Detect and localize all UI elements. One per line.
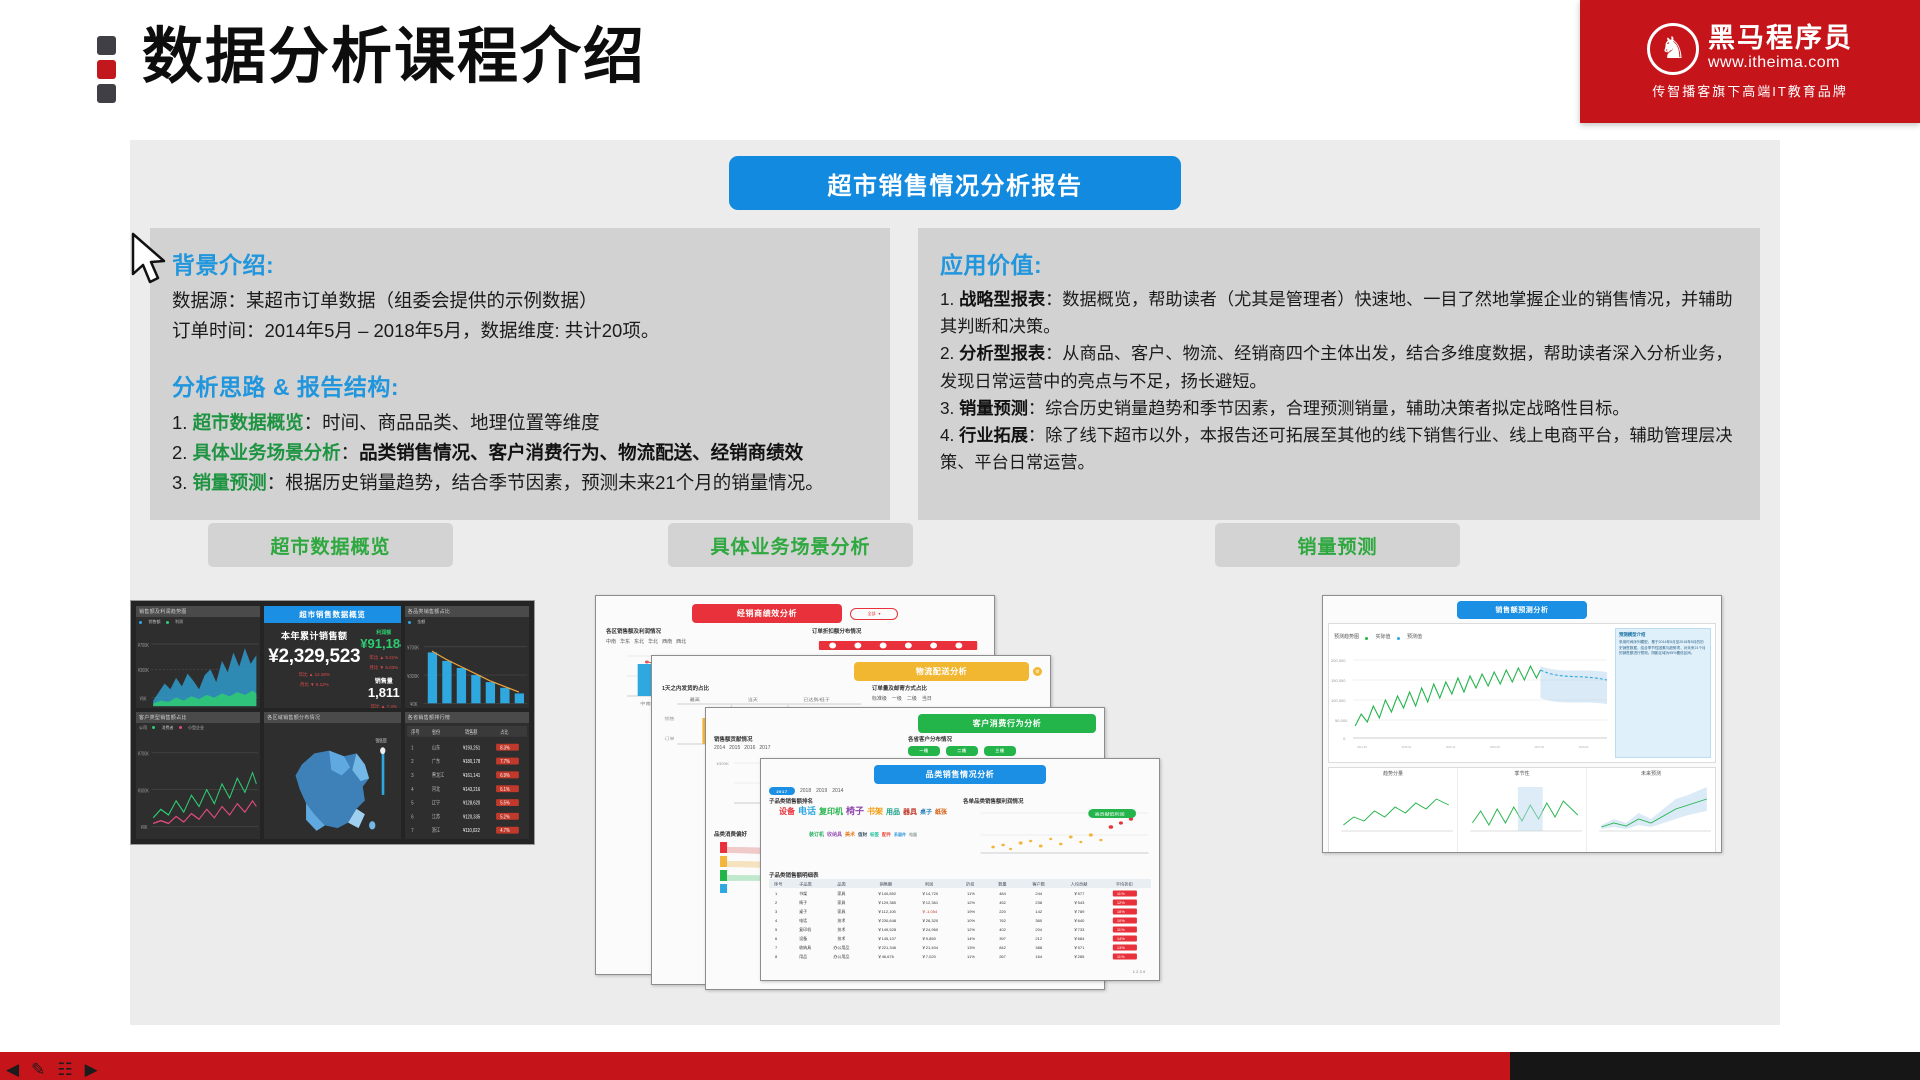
svg-text:江苏: 江苏 [432, 813, 440, 821]
structure-item-3: 3. 销量预测：根据历史销量趋势，结合季节因素，预测未来21个月的销量情况。 [172, 468, 868, 498]
section-label-row: 超市数据概览 具体业务场景分析 销量预测 [130, 523, 1780, 567]
value-heading: 应用价值: [940, 246, 1738, 280]
structure-item-2: 2. 具体业务场景分析：品类销售情况、客户消费行为、物流配送、经销商绩效 [172, 438, 868, 468]
legend-label-furn: 小型企业 [188, 725, 204, 731]
svg-text:￥149,528: ￥149,528 [878, 927, 897, 932]
dk-tile-province-table: 各省销售额排行榜 序号 省份 销售额 占比 1山东¥193,2518.3% 2广… [405, 712, 529, 839]
legend-swatch-profit [166, 620, 171, 625]
dk-tile-map-title: 各区域销售额分布情况 [264, 712, 401, 723]
value-item-4-num: 4. [940, 425, 954, 445]
svg-text:402: 402 [999, 927, 1006, 932]
category-detail-table: 序号子品类品类 销售额利润折扣 数量客户数人均贡献 平均折扣 1书架家具￥140… [769, 879, 1151, 964]
svg-text:平均折扣: 平均折扣 [1116, 881, 1133, 888]
svg-text:18%: 18% [1117, 909, 1125, 914]
svg-text:¥110,022: ¥110,022 [463, 827, 480, 834]
category-year-3[interactable]: 2014 [832, 788, 843, 794]
value-item-3-sep: ： [1028, 398, 1045, 418]
value-item-1-sep: ： [1045, 289, 1062, 309]
dealer-title-pill: 经销商绩效分析 [692, 604, 842, 623]
svg-text:¥143,216: ¥143,216 [463, 786, 480, 793]
forecast-season-subchart [1460, 777, 1584, 841]
logistics-legend-2: 二级 [907, 695, 917, 702]
svg-text:2015-11: 2015-11 [1446, 745, 1456, 749]
brand-logo: ♞ 黑马程序员 www.itheima.com 传智播客旗下高端IT教育品牌 [1580, 0, 1920, 123]
category-sub-left: 子品类销售额排名 [769, 797, 957, 805]
svg-text:14%: 14% [1117, 936, 1125, 941]
svg-text:高贡献低利润: 高贡献低利润 [1095, 811, 1125, 817]
svg-text:￥112,105: ￥112,105 [878, 909, 897, 914]
svg-text:办公用品: 办公用品 [833, 944, 849, 950]
pen-icon[interactable]: ✎ [31, 1061, 45, 1078]
dealer-legend-5: 西北 [676, 638, 686, 645]
svg-text:￥9,850: ￥9,850 [922, 936, 937, 941]
customer-tab-1[interactable]: 二线 [946, 746, 978, 756]
brand-name-cn: 黑马程序员 [1708, 24, 1853, 54]
customer-sub-right: 各省客户分布情况 [908, 735, 1096, 743]
svg-text:￥12,361: ￥12,361 [922, 900, 939, 905]
category-wordcloud: 设备 电话 复印机 椅子 书架 用品 器具 桌子 纸张 装订机 收纳具 美术 [769, 805, 957, 855]
forecast-sub-1: 季节性 [1460, 770, 1584, 777]
dk-tile-category-legend: 金额 [405, 617, 529, 627]
forecast-line-chart: 200,000150,000 100,00050,0000 2014-05201… [1329, 648, 1611, 766]
prev-arrow-icon[interactable]: ◀ [6, 1061, 19, 1078]
value-item-4-sep: ： [1028, 425, 1045, 445]
svg-text:￥145,107: ￥145,107 [878, 936, 897, 941]
forecast-title-pill: 销售额预测分析 [1457, 601, 1587, 619]
svg-text:220: 220 [999, 909, 1006, 914]
svg-text:6.9%: 6.9% [500, 772, 510, 779]
value-item-3-key: 销量预测 [959, 398, 1028, 418]
svg-text:¥300K: ¥300K [717, 762, 730, 766]
dk-kpi-side: 利润额 ¥91,184 年比 ▲ 9.21% 月比 ▼ 5.03% 销售量 1,… [360, 629, 401, 708]
thumbnail-category-sales[interactable]: 品类销售情况分析 2017 2018 2019 2014 子品类销售额排名 设备… [760, 758, 1160, 981]
page-icon[interactable]: ☷ [57, 1061, 72, 1078]
svg-text:10%: 10% [1117, 918, 1125, 923]
svg-text:6: 6 [775, 936, 778, 941]
bottom-bar [0, 1052, 1920, 1080]
svg-text:1: 1 [775, 891, 778, 896]
dealer-legend-3: 华北 [648, 638, 658, 645]
svg-text:设备: 设备 [799, 935, 807, 941]
dk-region-chart: ¥700K ¥300K ¥0K [136, 733, 260, 839]
svg-text:¥180,178: ¥180,178 [463, 758, 480, 765]
svg-text:762: 762 [999, 918, 1006, 923]
section-label-business[interactable]: 具体业务场景分析 [668, 523, 913, 567]
svg-text:212: 212 [1035, 936, 1042, 941]
structure-item-3-text: 根据历史销量趋势，结合季节因素，预测未来21个月的销量情况。 [285, 472, 824, 493]
svg-text:序号: 序号 [774, 881, 782, 888]
svg-text:7: 7 [775, 945, 778, 950]
svg-text:￥789: ￥789 [1074, 909, 1085, 914]
wordcloud-word-13: 标签 [870, 833, 879, 838]
background-line-2: 订单时间：2014年5月 – 2018年5月，数据维度: 共计20项。 [172, 316, 868, 346]
report-title-banner: 超市销售情况分析报告 [729, 156, 1181, 210]
content-card: 超市销售情况分析报告 背景介绍: 数据源：某超市订单数据（组委会提供的示例数据）… [130, 140, 1780, 1025]
value-item-1: 1. 战略型报表：数据概览，帮助读者（尤其是管理者）快速地、一目了然地掌握企业的… [940, 286, 1738, 340]
wordcloud-word-7: 桌子 [920, 810, 932, 816]
svg-text:¥300K: ¥300K [138, 668, 150, 675]
svg-text:484: 484 [999, 891, 1006, 896]
svg-text:13%: 13% [1117, 945, 1125, 950]
svg-text:订单: 订单 [665, 736, 676, 742]
section-label-forecast[interactable]: 销量预测 [1215, 523, 1460, 567]
dk-category-chart: ¥700K ¥300K ¥0K 电话椅子书架 设备桌子用品 收纳 [405, 627, 529, 708]
svg-text:238: 238 [1035, 900, 1042, 905]
svg-text:200,000: 200,000 [1331, 658, 1346, 663]
dk-kpi-value: ¥2,329,523 [268, 646, 360, 668]
svg-text:5: 5 [775, 927, 778, 932]
svg-text:12%: 12% [967, 900, 975, 905]
svg-text:11%: 11% [1117, 927, 1125, 932]
svg-text:150,000: 150,000 [1331, 678, 1346, 683]
svg-text:￥140,892: ￥140,892 [878, 891, 897, 896]
svg-text:11%: 11% [1117, 891, 1125, 896]
wordcloud-word-3: 椅子 [846, 807, 864, 816]
thumbnail-business-dashboards[interactable]: 经销商绩效分析 全部 ▾ 各区销售额及利润情况 中南 华东 东北 华北 [595, 595, 1295, 1010]
svg-text:7: 7 [411, 827, 414, 834]
section-label-overview[interactable]: 超市数据概览 [208, 523, 453, 567]
svg-text:￥571: ￥571 [1074, 945, 1085, 950]
structure-item-2-key: 具体业务场景分析 [193, 442, 341, 463]
forecast-sub-2: 未来预测 [1589, 770, 1713, 777]
svg-text:14%: 14% [967, 936, 975, 941]
svg-text:¥161,141: ¥161,141 [463, 772, 480, 779]
info-panels: 背景介绍: 数据源：某超市订单数据（组委会提供的示例数据） 订单时间：2014年… [150, 228, 1760, 520]
svg-text:1: 1 [411, 745, 414, 752]
bullet-square-red [97, 60, 116, 79]
thumbnail-overview-dashboard[interactable]: 销售额及利润趋势图 销售额 利润 ¥700K ¥300K ¥0K 201 [130, 600, 535, 845]
dk-kpi-label: 本年累计销售额 [268, 629, 360, 642]
svg-text:244: 244 [1035, 891, 1042, 896]
wordcloud-word-1: 电话 [798, 807, 816, 816]
svg-text:12%: 12% [967, 927, 975, 932]
dk-overview-header: 超市销售数据概览 [264, 606, 401, 623]
horse-head-icon: ♞ [1647, 23, 1699, 75]
svg-text:收纳具: 收纳具 [799, 944, 811, 950]
svg-text:家具: 家具 [837, 899, 845, 905]
wordcloud-word-9: 装订机 [809, 833, 824, 838]
svg-text:2015-02: 2015-02 [1402, 745, 1412, 749]
background-heading: 背景介绍: [172, 246, 868, 280]
logistics-legend: 标准级 一级 二级 当日 [872, 695, 1040, 702]
title-bullet-marks [97, 36, 116, 103]
svg-text:中南: 中南 [640, 701, 651, 707]
svg-text:￥-1,054: ￥-1,054 [922, 909, 938, 914]
structure-item-1-sep: ： [304, 412, 323, 433]
structure-item-2-num: 2. [172, 442, 187, 463]
wordcloud-word-14: 配件 [882, 833, 891, 838]
dk-side-sub-1b: 月比 ▼ 5.03% [360, 665, 401, 671]
svg-text:椅子: 椅子 [799, 899, 807, 905]
category-table-pagination[interactable]: 1 2 3 4 [769, 969, 1151, 974]
svg-text:￥7,020: ￥7,020 [922, 954, 937, 959]
dealer-legend-4: 西南 [662, 638, 672, 645]
brand-row: ♞ 黑马程序员 www.itheima.com [1647, 23, 1853, 75]
structure-item-1-key: 超市数据概览 [193, 412, 304, 433]
dk-tile-category-title: 各品类销售额占比 [405, 606, 529, 617]
svg-text:10%: 10% [967, 918, 975, 923]
value-item-1-num: 1. [940, 289, 954, 309]
dk-kpi-main: 本年累计销售额 ¥2,329,523 年比 ▲ 12.38% 月比 ▼ 8.12… [268, 629, 360, 708]
svg-text:267: 267 [999, 954, 1006, 959]
svg-text:￥577: ￥577 [1074, 891, 1085, 896]
wordcloud-word-16: 电器 [909, 833, 917, 837]
svg-text:¥300K: ¥300K [407, 673, 420, 680]
dk-tile-kpi: 超市销售数据概览 本年累计销售额 ¥2,329,523 年比 ▲ 12.38% … [264, 606, 401, 708]
svg-text:家具: 家具 [837, 890, 845, 896]
dk-china-map: 销售额 [264, 723, 401, 839]
svg-text:204: 204 [1035, 927, 1042, 932]
dk-tile-trend: 销售额及利润趋势图 销售额 利润 ¥700K ¥300K ¥0K 201 [136, 606, 260, 708]
value-item-2-sep: ： [1045, 343, 1062, 363]
svg-text:¥128,620: ¥128,620 [463, 800, 480, 807]
dealer-filter-label: 全部 [867, 611, 875, 617]
svg-text:河北: 河北 [432, 785, 440, 793]
svg-text:4: 4 [775, 918, 778, 923]
dk-tile-category: 各品类销售额占比 金额 ¥700K ¥300K ¥0K [405, 606, 529, 708]
svg-text:2018-02: 2018-02 [1579, 745, 1589, 749]
svg-text:2: 2 [775, 900, 778, 905]
wordcloud-word-11: 美术 [845, 833, 855, 838]
svg-text:￥684: ￥684 [1074, 936, 1085, 941]
svg-text:50,000: 50,000 [1335, 718, 1348, 723]
svg-text:6.1%: 6.1% [500, 786, 510, 793]
wordcloud-word-5: 用品 [886, 809, 900, 816]
wordcloud-word-8: 纸张 [935, 810, 947, 816]
structure-item-2-sep: ： [341, 442, 360, 463]
customer-tabs[interactable]: 一线 二线 三线 [908, 746, 1096, 756]
dk-side-value-2: 1,811 [360, 685, 401, 700]
dk-side-label-1: 利润额 [360, 629, 401, 636]
category-year-1[interactable]: 2018 [800, 788, 811, 794]
svg-text:3: 3 [411, 772, 414, 779]
next-arrow-icon[interactable]: ▶ [85, 1061, 98, 1078]
svg-text:8: 8 [775, 954, 778, 959]
value-item-2-num: 2. [940, 343, 954, 363]
legend-swatch-predicted [1397, 627, 1402, 645]
legend-label-sales: 销售额 [149, 619, 161, 625]
svg-text:办公用品: 办公用品 [833, 953, 849, 959]
customer-title-pill: 客户消费行为分析 [918, 714, 1096, 733]
svg-text:¥300K: ¥300K [138, 787, 150, 794]
svg-text:11%: 11% [967, 891, 975, 896]
bullet-square-dark-top [97, 36, 116, 55]
bottom-toolbar[interactable]: ◀ ✎ ☷ ▶ [6, 1061, 98, 1078]
legend-label-amount: 金额 [417, 619, 425, 625]
svg-text:142: 142 [1035, 909, 1042, 914]
category-scatter-chart: 高贡献低利润 [963, 805, 1151, 865]
wordcloud-word-0: 设备 [779, 808, 795, 816]
svg-text:家具: 家具 [837, 908, 845, 914]
svg-text:388: 388 [1035, 945, 1042, 950]
svg-text:5.5%: 5.5% [500, 800, 510, 807]
gear-icon[interactable]: ⚙ [1033, 667, 1042, 676]
legend-swatch-actual [1365, 627, 1370, 645]
forecast-main-chart-box: 预测趋势图 实际值 预测值 200,000150,000 100,00050,0… [1328, 623, 1716, 763]
category-table-title: 子品类销售额明细表 [769, 871, 1151, 879]
svg-text:￥221,346: ￥221,346 [878, 945, 897, 950]
customer-sub-left: 销售额贡献情况 [714, 735, 902, 743]
svg-text:¥120,335: ¥120,335 [463, 814, 480, 821]
svg-text:100,000: 100,000 [1331, 698, 1346, 703]
customer-tab-0[interactable]: 一线 [908, 746, 940, 756]
svg-text:数量: 数量 [998, 881, 1006, 888]
dealer-legend-1: 华东 [620, 638, 630, 645]
wordcloud-word-6: 器具 [903, 809, 917, 816]
category-title-pill: 品类销售情况分析 [874, 765, 1046, 784]
svg-text:人均贡献: 人均贡献 [1071, 881, 1089, 888]
svg-text:已达到/低于: 已达到/低于 [803, 697, 830, 703]
svg-text:子品类: 子品类 [799, 881, 812, 888]
svg-text:￥640: ￥640 [1074, 918, 1085, 923]
dk-tile-trend-legend: 销售额 利润 [136, 617, 260, 627]
customer-legend-0: 2014 [714, 745, 725, 751]
structure-item-3-sep: ： [267, 472, 286, 493]
svg-text:¥0K: ¥0K [140, 696, 147, 703]
structure-heading: 分析思路 & 报告结构: [172, 368, 868, 402]
brand-names: 黑马程序员 www.itheima.com [1708, 24, 1853, 74]
svg-text:折扣: 折扣 [966, 881, 974, 888]
bottom-bar-dark-segment [1510, 1052, 1920, 1080]
forecast-future-subchart [1589, 777, 1713, 841]
dk-side-label-2: 销售量 [360, 676, 401, 685]
dk-tile-map: 各区域销售额分布情况 销售额 [264, 712, 401, 839]
svg-text:辽宁: 辽宁 [432, 799, 440, 807]
legend-label-customertype: 公司 [139, 725, 147, 731]
svg-text:¥193,251: ¥193,251 [463, 745, 480, 752]
svg-text:7.7%: 7.7% [500, 758, 510, 765]
svg-text:山东: 山东 [432, 743, 440, 751]
svg-text:最高: 最高 [690, 697, 701, 703]
dk-trend-chart: ¥700K ¥300K ¥0K 2014年5月 2016年5月 2018年5月 [136, 627, 260, 708]
svg-text:利润: 利润 [925, 881, 933, 888]
dk-side-value-1: ¥91,184 [360, 636, 401, 651]
dk-tile-region-legend: 公司 消费者 小型企业 [136, 723, 260, 733]
svg-text:842: 842 [999, 945, 1006, 950]
svg-text:黑龙江: 黑龙江 [432, 771, 444, 779]
value-item-4-text: 除了线下超市以外，本报告还可拓展至其他的线下销售行业、线上电商平台，辅助管理层决… [940, 425, 1733, 472]
background-line-1: 数据源：某超市订单数据（组委会提供的示例数据） [172, 286, 868, 316]
wordcloud-word-15: 系固件 [894, 833, 906, 837]
dealer-filter-dropdown[interactable]: 全部 ▾ [850, 608, 898, 620]
value-item-3-text: 综合历史销量趋势和季节因素，合理预测销量，辅助决策者拟定战略性目标。 [1045, 398, 1629, 418]
logistics-sub-left: 1天之内发货的占比 [662, 684, 864, 692]
dk-tile-region: 客户类型销售额占比 公司 消费者 小型企业 ¥700K ¥300K ¥0K [136, 712, 260, 839]
logistics-legend-0: 标准级 [872, 695, 887, 702]
svg-text:3: 3 [775, 909, 778, 914]
slide-root: 数据分析课程介绍 ♞ 黑马程序员 www.itheima.com 传智播客旗下高… [0, 0, 1920, 1080]
svg-text:¥700K: ¥700K [138, 642, 150, 649]
dealer-legend: 中南 华东 东北 华北 西南 西北 [606, 638, 804, 645]
svg-text:¥0K: ¥0K [410, 702, 418, 708]
svg-text:￥285: ￥285 [1074, 954, 1085, 959]
wordcloud-word-12: 信封 [858, 833, 867, 838]
svg-text:书架: 书架 [799, 890, 807, 896]
page-title: 数据分析课程介绍 [142, 22, 646, 92]
forecast-subpanels-box: 趋势分量 季节性 未来预测 [1328, 767, 1716, 853]
svg-text:￥733: ￥733 [1074, 927, 1085, 932]
value-item-3-num: 3. [940, 398, 954, 418]
category-year-tabs[interactable]: 2017 2018 2019 2014 [761, 787, 1159, 797]
forecast-legend: 预测趋势图 实际值 预测值 [1329, 624, 1611, 648]
svg-text:销售额: 销售额 [880, 881, 893, 888]
svg-text:广东: 广东 [432, 757, 440, 765]
forecast-legend-1: 预测值 [1407, 633, 1422, 640]
structure-item-3-key: 销量预测 [193, 472, 267, 493]
customer-tab-2[interactable]: 三线 [984, 746, 1016, 756]
svg-text:2017-05: 2017-05 [1534, 745, 1544, 749]
value-item-4-key: 行业拓展 [959, 425, 1028, 445]
svg-text:¥700K: ¥700K [138, 751, 150, 758]
structure-item-2-text: 品类销售情况、客户消费行为、物流配送、经销商绩效 [359, 442, 803, 463]
svg-text:￥543: ￥543 [1074, 900, 1085, 905]
chevron-down-icon: ▾ [878, 611, 880, 616]
svg-text:￥21,404: ￥21,404 [922, 945, 939, 950]
structure-item-1: 1. 超市数据概览：时间、商品品类、地理位置等维度 [172, 408, 868, 438]
svg-text:¥700K: ¥700K [407, 645, 420, 652]
svg-text:5: 5 [411, 800, 414, 807]
structure-item-1-num: 1. [172, 412, 187, 433]
wordcloud-word-2: 复印机 [819, 808, 843, 816]
customer-legend-1: 2015 [729, 745, 740, 751]
customer-legend-2: 2016 [744, 745, 755, 751]
svg-text:164: 164 [1035, 954, 1042, 959]
thumbnail-forecast-dashboard[interactable]: 销售额预测分析 预测趋势图 实际值 预测值 200,000150,000 100… [1322, 595, 1722, 853]
svg-text:5.2%: 5.2% [500, 814, 510, 821]
svg-text:12%: 12% [1117, 900, 1125, 905]
svg-text:品类: 品类 [837, 881, 846, 888]
dealer-sub-left: 各区销售额及利润情况 [606, 627, 804, 635]
structure-item-1-text: 时间、商品品类、地理位置等维度 [322, 412, 600, 433]
svg-text:￥14,720: ￥14,720 [922, 891, 939, 896]
forecast-legend-title: 预测趋势图 [1334, 633, 1359, 640]
svg-text:技术: 技术 [837, 935, 845, 941]
svg-text:￥24,960: ￥24,960 [922, 927, 939, 932]
forecast-note-title: 预测模型介绍 [1619, 632, 1707, 638]
dealer-legend-2: 东北 [634, 638, 644, 645]
forecast-trend-subchart [1331, 777, 1455, 841]
svg-text:13%: 13% [967, 945, 975, 950]
value-item-3: 3. 销量预测：综合历史销量趋势和季节因素，合理预测销量，辅助决策者拟定战略性目… [940, 395, 1738, 422]
forecast-sub-0: 趋势分量 [1331, 770, 1455, 777]
svg-text:电话: 电话 [799, 917, 807, 923]
dk-kpi-wrap: 本年累计销售额 ¥2,329,523 年比 ▲ 12.38% 月比 ▼ 8.12… [264, 623, 401, 708]
svg-text:￥46,676: ￥46,676 [878, 954, 895, 959]
dk-tile-province-title: 各省销售额排行榜 [405, 712, 529, 723]
svg-text:2014-05: 2014-05 [1357, 745, 1367, 749]
dealer-legend-0: 中南 [606, 638, 616, 645]
category-year-2[interactable]: 2019 [816, 788, 827, 794]
svg-text:0: 0 [1343, 736, 1346, 741]
structure-item-3-num: 3. [172, 472, 187, 493]
dk-tile-region-title: 客户类型销售额占比 [136, 712, 260, 723]
category-year-0[interactable]: 2017 [769, 787, 795, 795]
bullet-square-dark-bottom [97, 84, 116, 103]
legend-swatch-tech [152, 725, 157, 730]
dk-tile-trend-title: 销售额及利润趋势图 [136, 606, 260, 617]
value-panel: 应用价值: 1. 战略型报表：数据概览，帮助读者（尤其是管理者）快速地、一目了然… [918, 228, 1760, 520]
value-item-4: 4. 行业拓展：除了线下超市以外，本报告还可拓展至其他的线下销售行业、线上电商平… [940, 422, 1738, 476]
svg-text:销售: 销售 [665, 716, 676, 722]
svg-text:销售额: 销售额 [376, 736, 388, 744]
svg-text:8.3%: 8.3% [500, 745, 510, 752]
svg-text:技术: 技术 [837, 926, 845, 932]
legend-swatch-sales [139, 620, 144, 625]
legend-label-tech: 消费者 [162, 725, 174, 731]
svg-text:4.7%: 4.7% [500, 827, 510, 834]
dk-kpi-delta-1: 年比 ▲ 12.38% [268, 672, 360, 678]
wordcloud-word-10: 收纳具 [827, 833, 842, 838]
